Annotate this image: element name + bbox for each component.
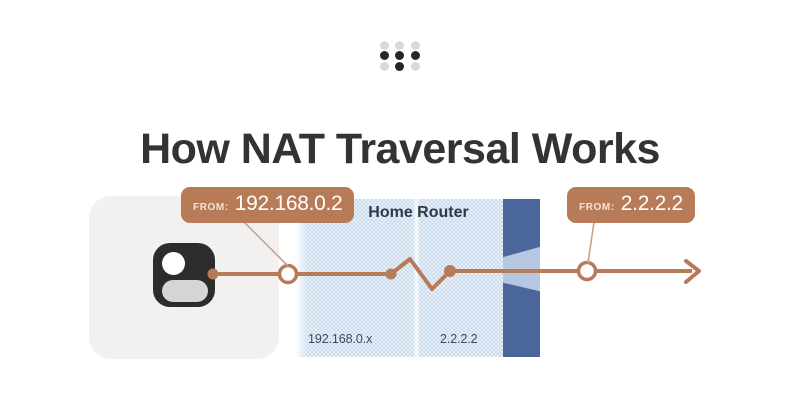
firewall-bar: [503, 199, 540, 357]
nat-traversal-diagram: Home Router 192.168.0.x 2.2.2.2 FR: [0, 0, 800, 400]
router-zone-divider: [413, 199, 420, 357]
badge-ip-value: 192.168.0.2: [235, 192, 343, 216]
badge-from-label: FROM:: [193, 202, 229, 213]
arrow-head-icon: [686, 261, 699, 282]
leader-line-public: [588, 222, 594, 263]
badge-source-private[interactable]: FROM: 192.168.0.2: [181, 187, 354, 223]
private-subnet-label: 192.168.0.x: [308, 332, 372, 346]
avatar-body-shape: [162, 280, 208, 302]
connection-node-public: [579, 263, 596, 280]
avatar-head-shape: [162, 252, 185, 275]
badge-source-public[interactable]: FROM: 2.2.2.2: [567, 187, 695, 223]
connection-node-private: [280, 266, 297, 283]
public-ip-label: 2.2.2.2: [440, 332, 478, 346]
badge-from-label: FROM:: [579, 202, 615, 213]
badge-ip-value: 2.2.2.2: [621, 192, 683, 216]
user-device-icon: [153, 243, 215, 307]
